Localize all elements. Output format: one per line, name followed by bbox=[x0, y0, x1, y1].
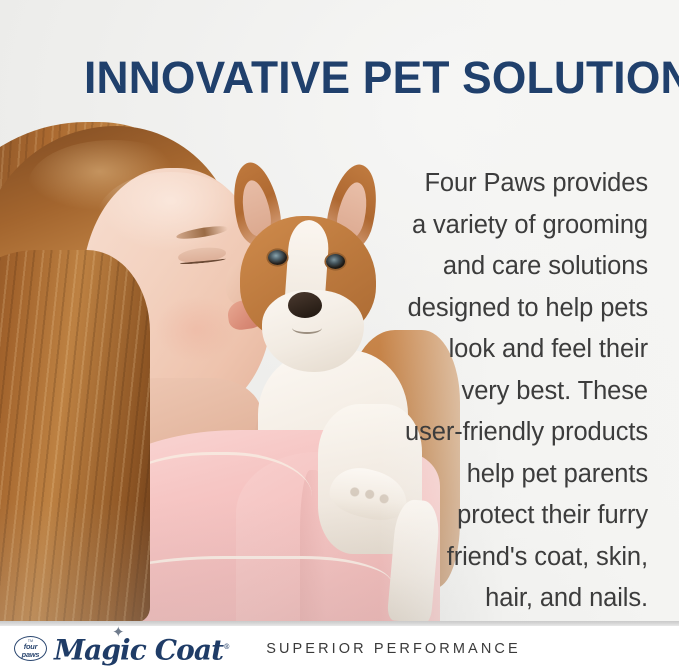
magic-coat-wordmark: ✦ Magic Coat® bbox=[54, 632, 237, 665]
puppy-nose bbox=[288, 292, 322, 318]
hero-photo-stage: INNOVATIVE PET SOLUTIONS Four Paws provi… bbox=[0, 0, 679, 621]
body-line: Four Paws provides bbox=[424, 169, 648, 197]
page-title: INNOVATIVE PET SOLUTIONS bbox=[84, 52, 628, 104]
body-line: very best. These bbox=[462, 377, 648, 405]
body-line: look and feel their bbox=[449, 335, 648, 363]
body-paragraph: Four Paws providesa variety of groominga… bbox=[396, 163, 648, 620]
brand-footer: TM four paws ✦ Magic Coat® SUPERIOR PERF… bbox=[0, 626, 679, 672]
brand-lockup: TM four paws ✦ Magic Coat® SUPERIOR PERF… bbox=[14, 632, 521, 665]
puppy-mouth bbox=[292, 322, 322, 334]
puppy-right-eye bbox=[326, 254, 345, 269]
body-line: hair, and nails. bbox=[485, 584, 648, 612]
body-line: protect their furry bbox=[457, 501, 648, 529]
girl-cheek-blush bbox=[150, 292, 242, 366]
body-line: a variety of grooming bbox=[412, 211, 648, 239]
pet-product-banner: INNOVATIVE PET SOLUTIONS Four Paws provi… bbox=[0, 0, 679, 672]
brand-tagline: SUPERIOR PERFORMANCE bbox=[266, 641, 521, 657]
four-paws-badge-icon: TM four paws bbox=[14, 636, 47, 661]
body-line: designed to help pets bbox=[408, 294, 648, 322]
body-line: user-friendly products bbox=[405, 418, 648, 446]
body-line: and care solutions bbox=[443, 252, 648, 280]
magic-coat-text: Magic Coat bbox=[54, 634, 223, 667]
sparkle-icon: ✦ bbox=[112, 626, 125, 639]
puppy-left-eye bbox=[268, 250, 287, 265]
registered-trademark-icon: ® bbox=[223, 643, 230, 651]
four-paws-line2: paws bbox=[22, 651, 40, 658]
body-line: help pet parents bbox=[467, 460, 648, 488]
body-line: friend's coat, skin, bbox=[447, 543, 648, 571]
